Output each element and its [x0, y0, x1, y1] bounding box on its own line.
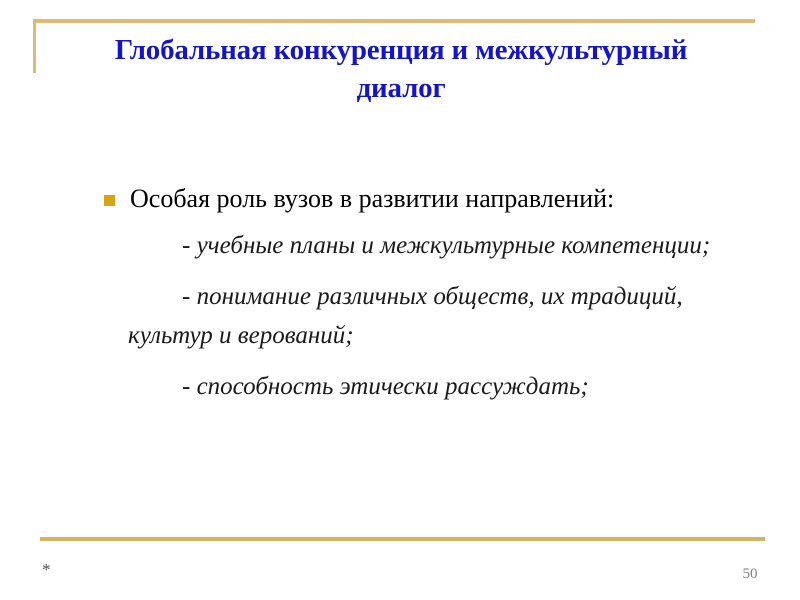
bottom-accent-rule	[40, 537, 765, 541]
sub-item-1: - учебные планы и межкультурные компетен…	[100, 226, 760, 265]
footer-left-mark: *	[42, 560, 51, 580]
slide-body: Особая роль вузов в развитии направлений…	[100, 182, 760, 406]
sub-item-2: - понимание различных обществ, их традиц…	[100, 277, 760, 355]
slide-title-line-1: Глобальная конкуренция и межкультурный	[36, 31, 766, 69]
slide-page-number: 50	[730, 566, 770, 583]
sub-item-3: - способность этически рассуждать;	[100, 367, 760, 406]
slide-title-line-2: диалог	[36, 69, 766, 107]
slide-canvas: Глобальная конкуренция и межкультурный д…	[0, 0, 800, 600]
slide-title: Глобальная конкуренция и межкультурный д…	[36, 31, 766, 107]
bullet-item: Особая роль вузов в развитии направлений…	[100, 182, 760, 216]
top-accent-rule	[33, 19, 755, 23]
bullet-item-label: Особая роль вузов в развитии направлений…	[130, 184, 614, 213]
square-bullet-icon	[104, 195, 115, 206]
